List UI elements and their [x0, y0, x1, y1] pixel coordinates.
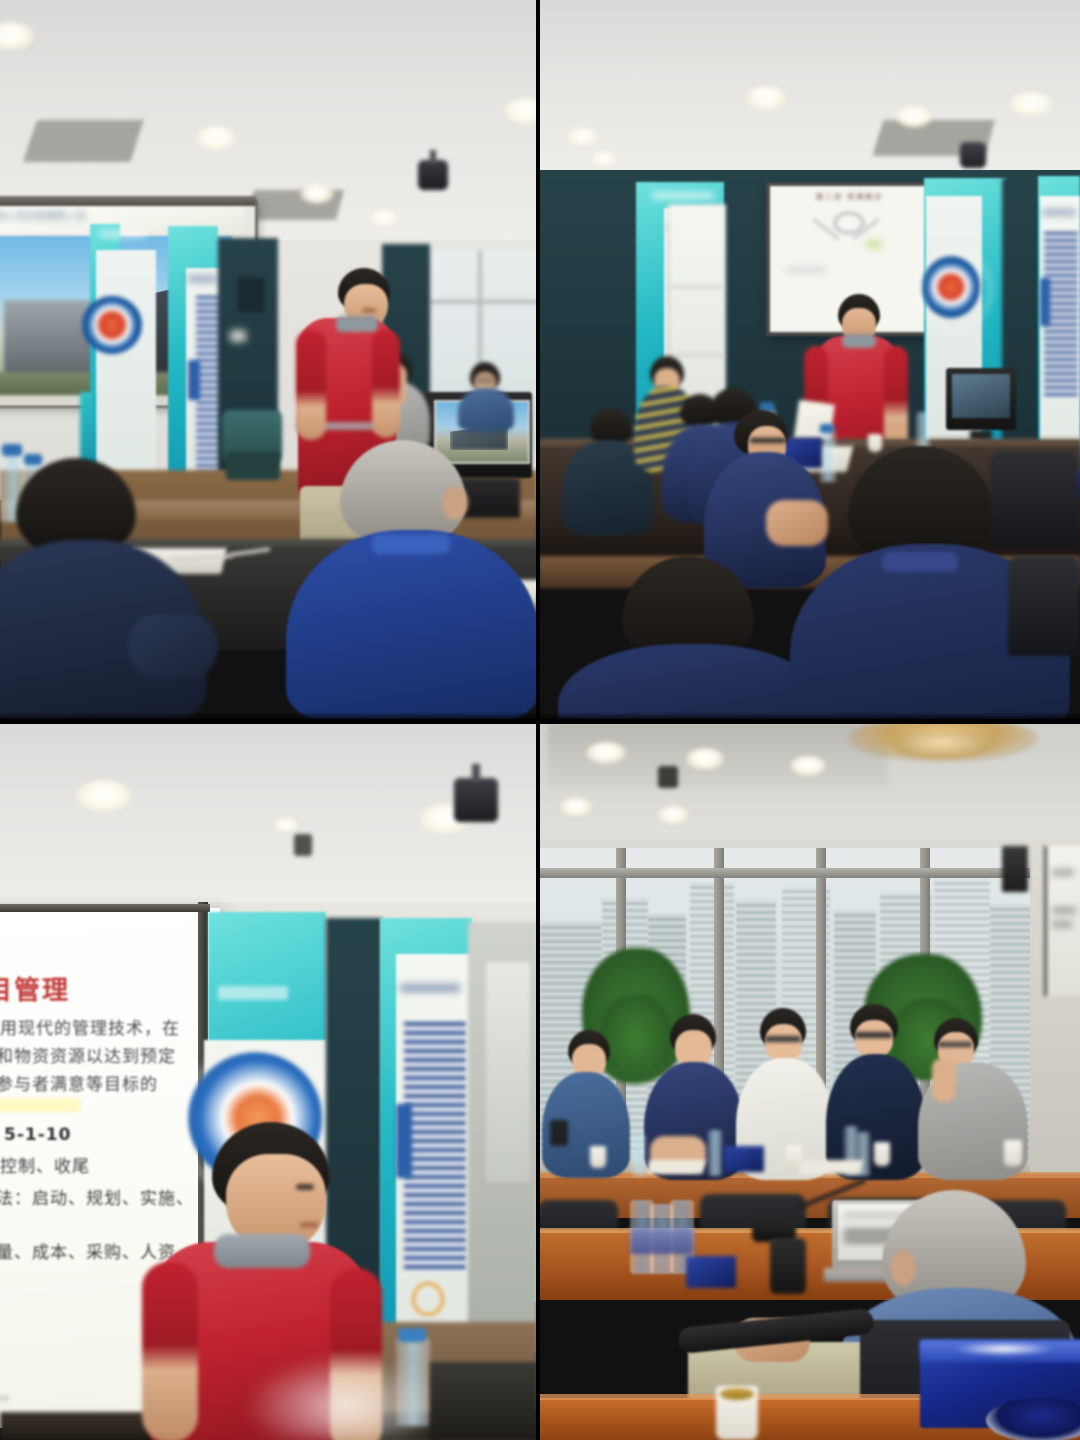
ashtray: [986, 1398, 1080, 1440]
photo-panel-bottom-left: 目管理 运用现代的管理技术，在 力和物资资源以达到预定 和参与者满意等目标的 ：…: [0, 722, 538, 1440]
slide-diagram-icon: [834, 212, 864, 234]
wall-screen: [1044, 846, 1080, 996]
document: [647, 1160, 705, 1174]
banner-logo-icon: [412, 1282, 444, 1316]
foreground-senior-ear: [890, 1250, 916, 1286]
slide-body-line: 和参与者满意等目标的: [0, 1070, 158, 1095]
instructor-arm: [296, 330, 326, 440]
instructor-arm: [142, 1262, 198, 1440]
slide-number-line: ：5-1-10: [0, 1120, 71, 1145]
ceiling-projector-icon: [418, 160, 448, 190]
projector-mount-icon: [430, 150, 436, 164]
attendee-arm: [932, 1058, 956, 1102]
ceiling-vent-icon: [23, 120, 144, 162]
ceiling-light-icon: [76, 780, 132, 812]
ceiling-light-icon: [658, 806, 688, 824]
attendee-torso: [458, 388, 514, 432]
foreground-senior-ear: [442, 486, 468, 520]
attendee-face: [855, 1020, 893, 1058]
window-transom: [538, 868, 1038, 878]
ceiling-light-icon: [560, 798, 592, 816]
chandelier-icon: [894, 732, 990, 758]
slide-bullet-line: 质量、成本、采购、人资、: [0, 1238, 194, 1263]
ceiling-light-icon: [586, 742, 626, 764]
slide-footer-text: 2024: [0, 1394, 8, 1403]
photo-panel-top-left: 施工项目管理第二讲: [0, 0, 538, 722]
wall-screen-text: [1052, 870, 1074, 875]
slide-title-text: 第二讲 管理概论: [816, 192, 883, 202]
slide-highlight: [0, 1098, 80, 1112]
potted-plant: [600, 994, 672, 1078]
slide-heading-text: 目管理: [0, 970, 70, 1007]
ceiling-light-icon: [896, 106, 932, 128]
attendee-face: [765, 1024, 802, 1062]
projector-mount-icon: [472, 764, 480, 782]
slide-title-text: 施工项目管理第二讲: [0, 209, 86, 222]
banner-title-text: [652, 192, 714, 199]
collar-icon: [882, 552, 958, 572]
wall-screen-text: [1052, 922, 1072, 927]
photo-panel-bottom-right: [538, 722, 1080, 1440]
ceiling-light-icon: [196, 126, 236, 150]
collar-icon: [372, 534, 450, 554]
microphone-base: [770, 1238, 806, 1294]
desk: [430, 1362, 538, 1440]
instructor-eye: [296, 1184, 314, 1190]
banner-table-icon: [404, 1022, 466, 1272]
water-bottle: [820, 430, 836, 482]
ceiling-light-icon: [300, 184, 334, 204]
collar-icon: [336, 316, 378, 332]
glasses-icon: [474, 378, 496, 382]
paper-cup: [868, 434, 882, 452]
tea-liquid: [720, 1388, 754, 1400]
foreground-haze: [246, 1356, 446, 1440]
collar-icon: [842, 334, 876, 348]
paper-cup: [590, 1146, 606, 1168]
glasses-icon: [765, 1036, 801, 1042]
monitor-screen: [952, 374, 1010, 418]
instructor-mouth: [300, 1222, 318, 1228]
ceiling-light-icon: [370, 210, 398, 226]
ceiling-light-icon: [274, 818, 298, 832]
glasses-icon: [938, 1042, 972, 1047]
attendee-arm: [766, 500, 828, 546]
ceiling-light-icon: [686, 748, 724, 770]
ceiling-light-icon: [592, 152, 616, 166]
document: [799, 1160, 863, 1174]
wall-speaker-icon: [1002, 846, 1028, 892]
ceiling-speaker-icon: [658, 766, 678, 788]
glasses-icon: [750, 438, 786, 443]
ceiling-light-icon: [746, 86, 786, 110]
paper-cup: [1004, 1140, 1022, 1166]
water-bottle: [632, 1134, 646, 1176]
phone-icon: [550, 1120, 568, 1146]
photo-collage: 施工项目管理第二讲: [0, 0, 1080, 1440]
slide-body-line: 运用现代的管理技术，在: [0, 1014, 180, 1039]
foreground-senior-body: [286, 530, 538, 722]
slide-bullet-line: 、控制、收尾: [0, 1152, 90, 1177]
emblem-ring-icon: [916, 250, 992, 330]
bottle-label: [630, 1228, 694, 1254]
water-bottle: [708, 1130, 722, 1176]
slide-body-line: 力和物资资源以达到预定: [0, 1042, 176, 1067]
photo-panel-top-right: 第二讲 管理概论: [538, 0, 1080, 722]
ceiling-projector-icon: [960, 142, 986, 168]
banner-title-text: [218, 986, 288, 1000]
ceiling-light-icon: [1010, 92, 1052, 116]
paper-cup: [874, 1142, 890, 1166]
chair: [1008, 556, 1080, 656]
screen-frame: [0, 904, 210, 912]
screen-roller: [0, 196, 256, 206]
ceiling-light-icon: [790, 756, 826, 776]
glasses-icon: [855, 1032, 892, 1038]
tissue-box-graphic: [954, 1342, 1054, 1356]
slide-bullet-line: 方法：启动、规划、实施、: [0, 1184, 194, 1209]
tissue-box: [686, 1256, 736, 1288]
wall-screen-text: [1052, 908, 1076, 913]
foreground-attendee-arm: [128, 614, 218, 678]
ceiling-projector-icon: [454, 778, 498, 822]
chair: [990, 452, 1078, 548]
foreground-attendee-body: [558, 644, 826, 722]
collar-icon: [214, 1234, 310, 1268]
instructor-arm: [372, 330, 400, 438]
ceiling-speaker-icon: [294, 834, 312, 856]
ceiling-light-icon: [568, 128, 598, 146]
tissue-box: [724, 1146, 764, 1172]
banner-emblem-icon: [82, 296, 142, 354]
collage-seam-horizontal: [0, 719, 1080, 724]
chair: [226, 452, 280, 480]
